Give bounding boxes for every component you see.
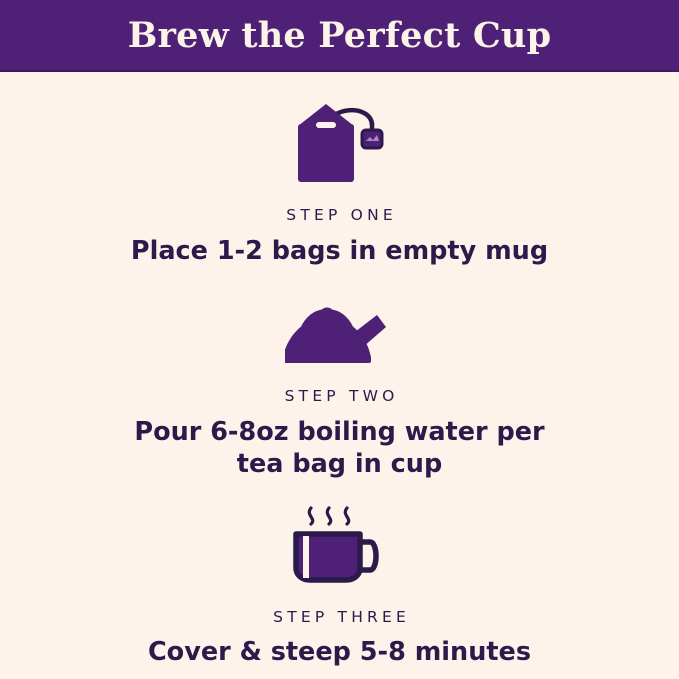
- step-one-instruction: Place 1-2 bags in empty mug: [131, 235, 548, 268]
- tea-bag-icon: [292, 94, 388, 190]
- step-one-eyebrow: STEP ONE: [282, 208, 397, 224]
- brewing-instructions-poster: Brew the Perfect Cup ST: [0, 0, 679, 679]
- step-item-two: STEP TWO Pour 6-8oz boiling water per te…: [0, 267, 679, 481]
- step-two-eyebrow: STEP TWO: [280, 389, 398, 405]
- step-item-one: STEP ONE Place 1-2 bags in empty mug: [0, 72, 679, 267]
- step-three-instruction-line-1: Cover & steep 5-8 minutes: [148, 636, 531, 669]
- steaming-mug-icon: [288, 502, 392, 584]
- step-one-instruction-line-1: Place 1-2 bags in empty mug: [131, 235, 548, 268]
- step-item-three: STEP THREE Cover & steep 5-8 minutes: [0, 481, 679, 669]
- step-two-instruction-line-1: Pour 6-8oz boiling water per: [134, 416, 544, 449]
- step-three-eyebrow: STEP THREE: [269, 610, 410, 626]
- step-two-instruction-line-2: tea bag in cup: [134, 448, 544, 481]
- poster-header: Brew the Perfect Cup: [0, 0, 679, 72]
- step-two-instruction: Pour 6-8oz boiling water per tea bag in …: [134, 416, 544, 481]
- kettle-icon: [285, 289, 395, 369]
- page-title: Brew the Perfect Cup: [128, 18, 552, 53]
- steps-list: STEP ONE Place 1-2 bags in empty mug: [0, 72, 679, 679]
- step-three-instruction: Cover & steep 5-8 minutes: [148, 636, 531, 669]
